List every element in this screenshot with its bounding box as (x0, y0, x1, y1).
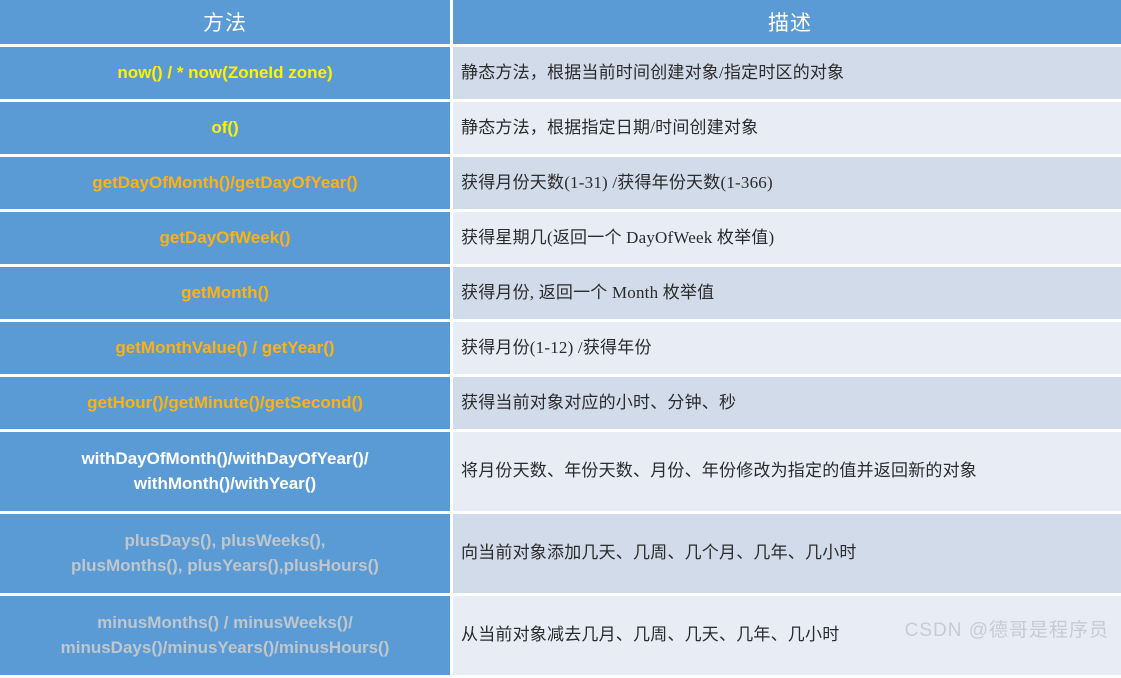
table-body: now() / * now(ZoneId zone)静态方法，根据当前时间创建对… (0, 47, 1121, 675)
table-row: withDayOfMonth()/withDayOfYear()/ withMo… (0, 432, 1121, 511)
method-description-cell: 将月份天数、年份天数、月份、年份修改为指定的值并返回新的对象 (453, 432, 1121, 511)
table-row: getMonthValue() / getYear()获得月份(1-12) /获… (0, 322, 1121, 374)
column-header-description: 描述 (453, 0, 1121, 44)
method-name-cell: withDayOfMonth()/withDayOfYear()/ withMo… (0, 432, 450, 511)
table-row: getDayOfMonth()/getDayOfYear()获得月份天数(1-3… (0, 157, 1121, 209)
method-description-cell: 静态方法，根据指定日期/时间创建对象 (453, 102, 1121, 154)
table-row: minusMonths() / minusWeeks()/ minusDays(… (0, 596, 1121, 675)
method-name-cell: getDayOfWeek() (0, 212, 450, 264)
method-name-cell: minusMonths() / minusWeeks()/ minusDays(… (0, 596, 450, 675)
table-row: getDayOfWeek()获得星期几(返回一个 DayOfWeek 枚举值) (0, 212, 1121, 264)
table-row: now() / * now(ZoneId zone)静态方法，根据当前时间创建对… (0, 47, 1121, 99)
method-description-cell: 向当前对象添加几天、几周、几个月、几年、几小时 (453, 514, 1121, 593)
method-description-cell: 静态方法，根据当前时间创建对象/指定时区的对象 (453, 47, 1121, 99)
method-description-cell: 获得月份天数(1-31) /获得年份天数(1-366) (453, 157, 1121, 209)
api-method-table-container: 方法 描述 now() / * now(ZoneId zone)静态方法，根据当… (0, 0, 1121, 650)
api-method-table: 方法 描述 now() / * now(ZoneId zone)静态方法，根据当… (0, 0, 1121, 678)
method-description-cell: 获得当前对象对应的小时、分钟、秒 (453, 377, 1121, 429)
method-description-cell: 从当前对象减去几月、几周、几天、几年、几小时 (453, 596, 1121, 675)
method-name-cell: getHour()/getMinute()/getSecond() (0, 377, 450, 429)
table-header-row: 方法 描述 (0, 0, 1121, 44)
table-header: 方法 描述 (0, 0, 1121, 44)
table-row: of()静态方法，根据指定日期/时间创建对象 (0, 102, 1121, 154)
table-row: getMonth()获得月份, 返回一个 Month 枚举值 (0, 267, 1121, 319)
method-name-cell: getMonthValue() / getYear() (0, 322, 450, 374)
method-description-cell: 获得月份, 返回一个 Month 枚举值 (453, 267, 1121, 319)
method-name-cell: of() (0, 102, 450, 154)
method-description-cell: 获得星期几(返回一个 DayOfWeek 枚举值) (453, 212, 1121, 264)
method-name-cell: getDayOfMonth()/getDayOfYear() (0, 157, 450, 209)
method-name-cell: now() / * now(ZoneId zone) (0, 47, 450, 99)
method-name-cell: plusDays(), plusWeeks(), plusMonths(), p… (0, 514, 450, 593)
table-row: getHour()/getMinute()/getSecond()获得当前对象对… (0, 377, 1121, 429)
table-row: plusDays(), plusWeeks(), plusMonths(), p… (0, 514, 1121, 593)
method-name-cell: getMonth() (0, 267, 450, 319)
method-description-cell: 获得月份(1-12) /获得年份 (453, 322, 1121, 374)
column-header-method: 方法 (0, 0, 450, 44)
